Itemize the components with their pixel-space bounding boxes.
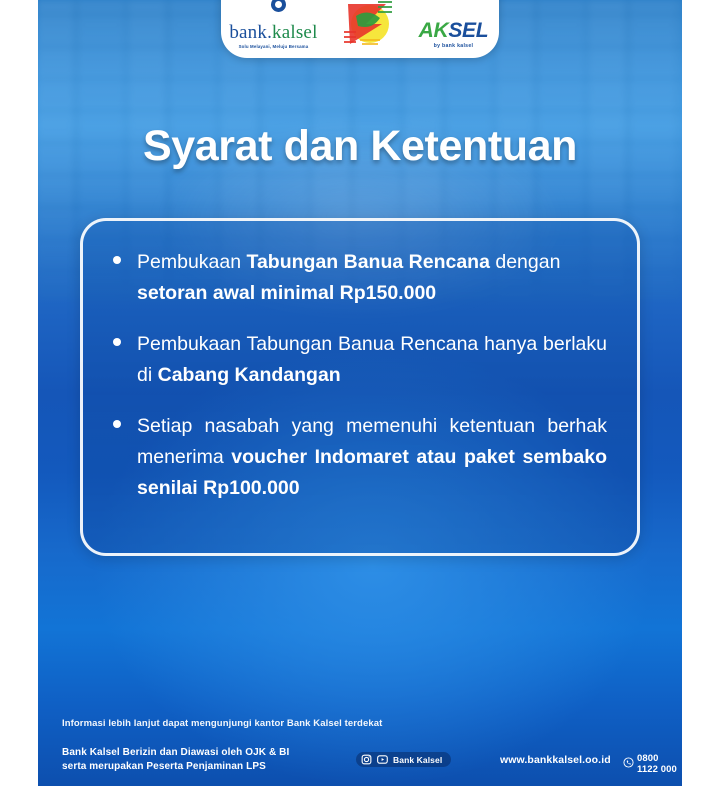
terms-bullet-text: Pembukaan Tabungan Banua Rencana dengan … [137,247,607,309]
bullet-dot-icon [113,420,121,428]
terms-bullet-item: Pembukaan Tabungan Banua Rencana dengan … [109,247,607,309]
footer-info-note: Informasi lebih lanjut dapat mengunjungi… [62,718,382,729]
aksel-word-part-blue: SEL [448,19,488,42]
poster-background: bank.kalsel Solu Melayani, Meluju Bersam… [38,0,682,786]
footer-phone[interactable]: 0800 1122 000 [623,753,682,775]
bank-kalsel-tagline: Solu Melayani, Meluju Bersama [221,44,326,50]
footer-website[interactable]: www.bankkalsel.oo.id [500,754,611,766]
bullet-dot-icon [113,256,121,264]
anniversary-75-icon [336,0,398,50]
terms-text-bold: Cabang Kandangan [158,364,341,386]
aksel-word-part-green: AK [419,19,449,42]
bank-kalsel-wordmark: bank.kalsel [221,23,326,43]
bank-kalsel-dot-icon [271,0,286,12]
aksel-tagline: by bank kalsel [408,43,499,50]
terms-text-regular: dengan [490,251,561,273]
terms-bullet-text: Pembukaan Tabungan Banua Rencana hanya b… [137,329,607,391]
terms-text-regular: Pembukaan [137,251,247,273]
aksel-wordmark: AKSEL [408,20,499,42]
terms-card: Pembukaan Tabungan Banua Rencana dengan … [80,218,640,556]
terms-text-bold: Tabungan Banua Rencana [247,251,490,273]
footer-social-label: Bank Kalsel [393,755,442,765]
logo-header-tab: bank.kalsel Solu Melayani, Meluju Bersam… [221,0,499,58]
poster-canvas: bank.kalsel Solu Melayani, Meluju Bersam… [0,0,720,786]
footer-regulatory-line-1: Bank Kalsel Berizin dan Diawasi oleh OJK… [62,746,289,760]
bank-kalsel-word-kalsel: kalsel [272,22,318,43]
call-center-icon [623,755,634,773]
page-title: Syarat dan Ketentuan [38,122,682,171]
terms-bullet-item: Setiap nasabah yang memenuhi ketentuan b… [109,411,607,504]
footer-regulatory-line-2: serta merupakan Peserta Penjaminan LPS [62,760,289,774]
bullet-dot-icon [113,338,121,346]
terms-bullet-list: Pembukaan Tabungan Banua Rencana dengan … [109,247,607,504]
aksel-logo: AKSEL by bank kalsel [408,20,499,50]
terms-bullet-item: Pembukaan Tabungan Banua Rencana hanya b… [109,329,607,391]
bank-kalsel-word-bank: bank [229,22,267,43]
footer-phone-number: 0800 1122 000 [637,753,682,775]
footer-regulatory: Bank Kalsel Berizin dan Diawasi oleh OJK… [62,746,289,774]
footer-social-pill[interactable]: Bank Kalsel [356,752,451,767]
instagram-icon[interactable] [361,754,372,765]
bank-kalsel-logo: bank.kalsel Solu Melayani, Meluju Bersam… [221,23,326,50]
youtube-icon[interactable] [377,754,388,765]
terms-text-bold: setoran awal minimal Rp150.000 [137,282,436,304]
anniversary-75-logo [336,0,398,50]
terms-bullet-text: Setiap nasabah yang memenuhi ketentuan b… [137,411,607,504]
